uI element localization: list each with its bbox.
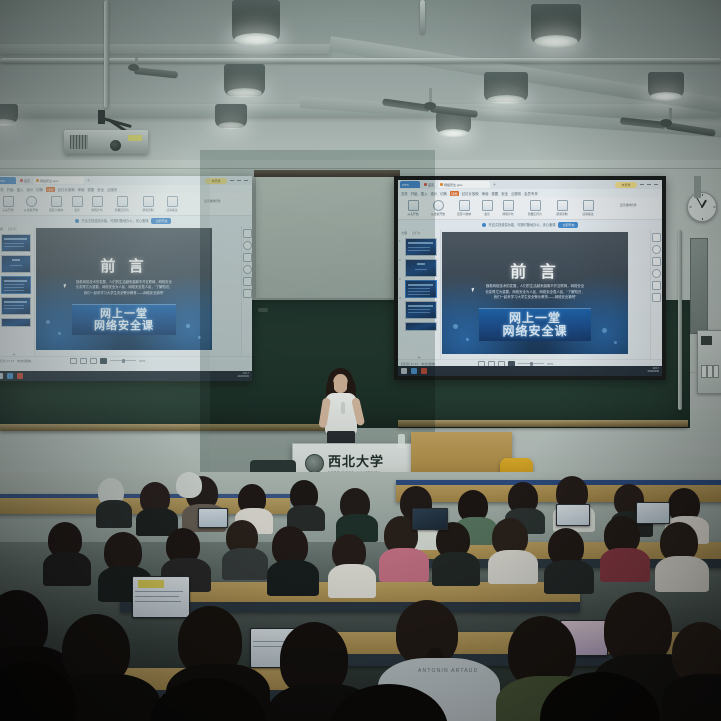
slide-thumbnail-3[interactable] [1, 276, 31, 294]
ceiling-fan-2 [618, 108, 721, 134]
ceiling-projector [58, 110, 154, 160]
electrical-distribution-panel[interactable] [697, 330, 721, 394]
thumb-number-r4: 4 [399, 296, 401, 300]
view-outline-icon[interactable] [80, 358, 87, 364]
ribbon-btn-r1[interactable]: 从当前开始 [428, 200, 448, 216]
projection-screen-left[interactable]: WPS 首页 网络安全.pptx + 未登录 文件 开始 插入 设计 切换 动画… [0, 176, 252, 381]
slide-thumbnail-2[interactable] [1, 255, 31, 273]
tab-home-right[interactable]: 首页 [422, 181, 436, 188]
minimize-icon-right[interactable] [640, 184, 644, 185]
slide-thumbnail-5[interactable] [1, 318, 31, 327]
cloud-roaming-notice-right[interactable]: 开启文档漫游功能，可随时随地办公，安心备课 立即开启 [398, 220, 662, 229]
screen-record-icon-right [557, 200, 568, 211]
menu-item-r6[interactable]: 幻灯片放映 [462, 191, 479, 196]
slide-thumbnail-r1[interactable] [405, 238, 437, 256]
chart-tool-icon[interactable] [243, 277, 252, 286]
window-controls-right[interactable]: 未登录 [615, 182, 660, 188]
student-back-5 [176, 472, 212, 506]
slide-thumbnail-4[interactable] [1, 297, 31, 315]
wps-menubar-right[interactable]: 文件 开始 插入 设计 切换 动画 幻灯片放映 审阅 视图 安全 云服务 会员专… [398, 189, 662, 197]
ceiling [0, 0, 721, 178]
window-controls[interactable]: 未登录 [205, 178, 250, 184]
wps-window-right[interactable]: WPS 首页 网络安全.pptx + 未登录 文件 开始 插入 设计 切换 动画… [398, 180, 662, 376]
enable-roaming-button-right[interactable]: 立即开启 [558, 222, 578, 228]
wps-menubar[interactable]: 文件 开始 插入 设计 切换 动画 幻灯片放映 审阅 视图 安全 云服务 [0, 185, 252, 193]
ribbon-btn-r0[interactable]: 从头开始 [403, 200, 423, 216]
slide-thumbnail-panel[interactable]: 大纲 幻灯片 1 2 3 4 + [0, 226, 35, 365]
custom-show-icon [51, 196, 62, 207]
student-bottom-4 [540, 672, 690, 721]
zoom-slider-knob-right[interactable] [530, 362, 533, 366]
ribbon-btn-5[interactable]: 隐藏幻灯片 [112, 196, 132, 212]
student-back-1 [98, 478, 138, 524]
thumb-number-r1: 1 [399, 239, 401, 243]
slide-thumbnail-r5[interactable] [405, 322, 437, 331]
close-icon[interactable] [244, 180, 248, 181]
slide-3[interactable]: 前 言 随着网络技术的发展，人们的生活越来越离不开互联网，网络安全 也变得尤为重… [36, 228, 212, 350]
windows-taskbar-right[interactable]: 19:17 2023/6/30 [398, 366, 662, 376]
menu-item-1[interactable]: 开始 [7, 187, 14, 192]
info-icon [75, 219, 79, 223]
student-mid-11 [604, 516, 652, 580]
student-back-7 [340, 488, 382, 536]
banner-line-r2: 网络安全课 [502, 325, 567, 338]
wall-conduit [690, 238, 708, 334]
slide-canvas-right[interactable]: 前 言 随着网络技术的发展，人们的生活越来越离不开互联网，网络安全 也变得尤为重… [442, 232, 628, 354]
right-tool-dock-right[interactable] [650, 230, 662, 368]
student-mid-10 [548, 528, 596, 592]
slide-body-right: 随着网络技术的发展，人们的生活越来越离不开互联网，网络安全 也变得尤为重要。网络… [453, 284, 617, 301]
enable-roaming-button[interactable]: 立即开启 [151, 218, 171, 224]
ribbon-btn-r4[interactable]: 排练计时 [498, 200, 518, 216]
ceiling-fan-1 [380, 88, 480, 114]
menu-item-r1[interactable]: 开始 [411, 191, 418, 196]
tab-file-right[interactable]: 网络安全.pptx [438, 181, 490, 188]
projection-screen-right[interactable]: WPS 首页 网络安全.pptx + 未登录 文件 开始 插入 设计 切换 动画… [394, 176, 666, 380]
menu-item-r2[interactable]: 插入 [421, 191, 428, 196]
tab-outline[interactable]: 大纲 [0, 227, 3, 231]
ribbon-btn-3[interactable]: 会议 [70, 196, 84, 212]
home-tab-icon [20, 179, 23, 182]
rehearse-timing-icon-right [503, 200, 514, 211]
windows-taskbar[interactable]: 19:17 2023/6/30 [0, 371, 252, 381]
language-indicator[interactable]: 中文(简体) [17, 359, 31, 363]
menu-item-5[interactable]: 动画 [46, 187, 55, 192]
tab-file[interactable]: 网络安全.pptx [34, 177, 84, 184]
slide-thumbnail-r3[interactable] [405, 280, 437, 298]
shirt-text: ANTONIN ARTAUD [418, 668, 478, 674]
wps-titlebar: WPS 首页 网络安全.pptx + 未登录 [0, 176, 252, 185]
view-notes-icon[interactable] [90, 358, 97, 364]
slide-indicator: 幻灯片 3 / 17 [0, 359, 14, 363]
notice-text-right: 开启文档漫游功能，可随时随地办公，安心备课 [489, 222, 556, 227]
student-mid-1 [48, 522, 94, 582]
slide-thumbnail-r4[interactable] [405, 301, 437, 319]
lecture-hall-photo: WPS 首页 网络安全.pptx + 未登录 文件 开始 插入 设计 切换 动画… [0, 0, 721, 721]
meeting-icon [72, 196, 83, 207]
slide-thumbnail-1[interactable] [1, 234, 31, 252]
ribbon-btn-r7[interactable]: 演讲备注 [578, 200, 598, 216]
slide-thumbnail-panel-right[interactable]: 大纲 幻灯片 1 2 3 4 + [398, 230, 441, 368]
menu-item-r7[interactable]: 审阅 [482, 191, 489, 196]
shapes-icon[interactable] [243, 241, 252, 250]
menu-item-10[interactable]: 云服务 [107, 187, 117, 192]
student-mid-4 [226, 520, 270, 578]
tray-clock-right[interactable]: 19:17 2023/6/30 [647, 368, 659, 374]
menu-item-4[interactable]: 切换 [36, 187, 43, 192]
zoom-slider-knob[interactable] [122, 359, 125, 363]
slide-body-line-r3: 我们一起来学习大学生安全警示教育——网络安全篇吧” [453, 295, 617, 301]
view-normal-icon[interactable] [70, 358, 77, 364]
ceiling-fan-3 [88, 52, 184, 76]
design-ideas-icon[interactable] [243, 229, 252, 238]
custom-show-icon-right [459, 200, 470, 211]
banner-line-2: 网络安全课 [94, 320, 154, 332]
image-tool-icon[interactable] [243, 265, 252, 274]
menu-item-8[interactable]: 视图 [87, 187, 94, 192]
menu-item-r9[interactable]: 安全 [501, 191, 508, 196]
tab-slides-right[interactable]: 幻灯片 [411, 231, 422, 235]
cloud-roaming-notice[interactable]: 开启文档漫游功能，可随时随地办公，安心备课 立即开启 [0, 216, 252, 225]
student-mid-8 [436, 522, 482, 584]
rehearse-timing-icon [92, 196, 103, 207]
hide-slide-icon-right [530, 200, 541, 211]
presenter-notes-icon [167, 196, 178, 207]
text-tool-icon[interactable] [243, 253, 252, 262]
pptx-file-icon-right [440, 183, 443, 186]
new-tab-button-right[interactable]: + [493, 182, 496, 188]
slide-body: 随着网络技术的发展，人们的生活越来越离不开互联网，网络安全 也变得尤为重要。网络… [47, 280, 202, 296]
zoom-slider-right[interactable] [518, 363, 544, 364]
chart-tool-icon-right[interactable] [652, 281, 661, 290]
tablet-1[interactable] [412, 508, 448, 530]
water-bottle [398, 434, 405, 448]
start-button-icon[interactable] [0, 373, 3, 379]
menu-item-r0[interactable]: 文件 [401, 191, 408, 196]
play-from-current-icon [26, 196, 37, 207]
wps-titlebar-right: WPS 首页 网络安全.pptx + 未登录 [398, 180, 662, 189]
wps-window-left[interactable]: WPS 首页 网络安全.pptx + 未登录 文件 开始 插入 设计 切换 动画… [0, 176, 252, 381]
zoom-slider[interactable] [110, 360, 136, 361]
tab-wps-home-right[interactable]: WPS [400, 181, 420, 188]
laptop-1[interactable] [556, 504, 590, 526]
menu-item-0[interactable]: 文件 [0, 187, 4, 192]
menu-item-3[interactable]: 设计 [26, 187, 33, 192]
wps-statusbar[interactable]: 幻灯片 3 / 17 中文(简体) 67% [0, 356, 252, 364]
thumbnail-tabs-right[interactable]: 大纲 幻灯片 [398, 230, 440, 236]
home-tab-icon-right [424, 183, 427, 186]
media-tool-icon[interactable] [243, 289, 252, 298]
laptop-2[interactable] [636, 502, 670, 524]
student-mid-6 [332, 534, 378, 596]
wps-ribbon[interactable]: 从头开始 从当前开始 自定义放映 会议 排练计时 隐藏幻灯片 屏幕录制 演讲备注… [0, 193, 252, 216]
university-name: 西北大学 [328, 451, 384, 470]
slide-banner-image: 网上一堂 网络安全课 [72, 304, 176, 335]
student-mid-5 [272, 526, 322, 592]
wall-pipe [678, 230, 682, 410]
chalk-rail-left [0, 424, 336, 431]
student-bottom-2 [150, 678, 300, 721]
menu-item-2[interactable]: 插入 [17, 187, 24, 192]
wall-clock [687, 192, 717, 222]
menu-item-r5[interactable]: 动画 [450, 191, 459, 196]
microphone [341, 402, 345, 414]
menu-item-9[interactable]: 安全 [97, 187, 104, 192]
slide-canvas[interactable]: 前 言 随着网络技术的发展，人们的生活越来越离不开互联网，网络安全 也变得尤为重… [36, 228, 212, 350]
tab-wps-home[interactable]: WPS [0, 177, 16, 184]
account-button-right[interactable]: 未登录 [615, 182, 637, 188]
right-tool-dock[interactable] [241, 226, 252, 365]
slide-thumbnail-r2[interactable] [405, 259, 437, 277]
shapes-icon-right[interactable] [652, 245, 661, 254]
ribbon-btn-2[interactable]: 自定义放映 [46, 196, 66, 212]
play-from-start-icon [3, 196, 14, 207]
slide-body-line-3: 我们一起来学习大学生安全警示教育——网络安全篇吧” [47, 291, 202, 296]
zoom-level: 67% [139, 359, 145, 363]
tray-date: 2023/6/30 [237, 375, 249, 378]
tray-date-right: 2023/6/30 [647, 370, 659, 373]
ribbon-checkbox-right[interactable]: 显示媒体控件 [620, 203, 656, 207]
tablet-2[interactable] [198, 508, 228, 528]
student-back-6 [290, 480, 328, 524]
wps-taskbar-icon[interactable] [17, 373, 23, 379]
ribbon-btn-4[interactable]: 排练计时 [87, 196, 107, 212]
menu-item-r3[interactable]: 设计 [430, 191, 437, 196]
tray-clock[interactable]: 19:17 2023/6/30 [237, 373, 249, 379]
meeting-icon-right [482, 200, 493, 211]
center-screen-valance [254, 170, 400, 177]
ribbon-btn-1[interactable]: 从当前开始 [21, 196, 41, 212]
pptx-file-icon [36, 179, 39, 182]
lecturer-head [333, 374, 348, 393]
screen-record-icon [143, 196, 154, 207]
slide-title-right: 前 言 [442, 258, 628, 282]
audience-area: ANTONIN ARTAUD [0, 472, 721, 721]
language-indicator-right[interactable]: 中文(简体) [421, 362, 435, 366]
slide-3-right[interactable]: 前 言 随着网络技术的发展，人们的生活越来越离不开互联网，网络安全 也变得尤为重… [442, 232, 628, 354]
menu-item-r10[interactable]: 云服务 [511, 191, 521, 196]
student-bottom-1 [0, 662, 110, 721]
tab-slides[interactable]: 幻灯片 [7, 227, 18, 231]
image-tool-icon-right[interactable] [652, 269, 661, 278]
wps-taskbar-icon-right[interactable] [421, 368, 427, 374]
account-button[interactable]: 未登录 [205, 178, 227, 184]
menu-item-r8[interactable]: 视图 [491, 191, 498, 196]
play-from-start-icon-right [408, 200, 419, 211]
minimize-icon[interactable] [230, 180, 234, 181]
media-tool-icon-right[interactable] [652, 293, 661, 302]
start-button-icon-right[interactable] [401, 368, 407, 374]
zoom-level-right: 67% [547, 362, 553, 366]
presenter-notes-icon-right [583, 200, 594, 211]
wps-ribbon-right[interactable]: 从头开始 从当前开始 自定义放映 会议 排练计时 隐藏幻灯片 屏幕录制 演讲备注… [398, 197, 662, 220]
edge-icon[interactable] [7, 373, 13, 379]
design-ideas-icon-right[interactable] [652, 233, 661, 242]
close-icon-right[interactable] [654, 184, 658, 185]
menu-item-r11[interactable]: 会员专享 [524, 191, 538, 196]
tab-outline-right[interactable]: 大纲 [401, 231, 407, 235]
thumbnail-tabs[interactable]: 大纲 幻灯片 [0, 226, 34, 232]
student-bottom-3 [330, 684, 480, 721]
text-tool-icon-right[interactable] [652, 257, 661, 266]
info-icon-right [482, 223, 486, 227]
new-tab-button[interactable]: + [87, 178, 90, 184]
menu-item-r4[interactable]: 切换 [440, 191, 447, 196]
university-seal-icon [305, 454, 324, 473]
chalk-rail-right [398, 420, 688, 427]
hide-slide-icon [117, 196, 128, 207]
ribbon-btn-r3[interactable]: 会议 [480, 200, 494, 216]
ribbon-btn-0[interactable]: 从头开始 [0, 196, 18, 212]
ribbon-checkbox[interactable]: 显示媒体控件 [204, 199, 238, 203]
notice-text: 开启文档漫游功能，可随时随地办公，安心备课 [82, 218, 149, 223]
play-from-current-icon-right [433, 200, 444, 211]
thumb-number-r3: 3 [399, 277, 401, 281]
slide-title: 前 言 [36, 255, 212, 276]
ribbon-btn-r2[interactable]: 自定义放映 [454, 200, 474, 216]
student-mid-12 [660, 522, 712, 590]
wall-bracket [694, 176, 701, 198]
view-slideshow-icon[interactable] [100, 358, 107, 364]
edge-icon-right[interactable] [411, 368, 417, 374]
slide-banner-image-right: 网上一堂 网络安全课 [479, 308, 591, 341]
ceiling-pipe-stub [420, 0, 425, 34]
ribbon-btn-r5[interactable]: 隐藏幻灯片 [525, 200, 545, 216]
menu-item-7[interactable]: 审阅 [78, 187, 85, 192]
ribbon-btn-7[interactable]: 演讲备注 [162, 196, 182, 212]
maximize-icon-right[interactable] [647, 184, 651, 185]
maximize-icon[interactable] [237, 180, 241, 181]
menu-item-6[interactable]: 幻灯片放映 [58, 187, 75, 192]
slide-indicator-right: 幻灯片 3 / 17 [401, 362, 418, 366]
ribbon-btn-6[interactable]: 屏幕录制 [138, 196, 158, 212]
center-blank-screen [256, 176, 396, 298]
tab-home[interactable]: 首页 [18, 177, 32, 184]
student-mid-9 [492, 518, 540, 582]
ribbon-btn-r6[interactable]: 屏幕录制 [552, 200, 572, 216]
thumb-number-r2: 2 [399, 258, 401, 262]
